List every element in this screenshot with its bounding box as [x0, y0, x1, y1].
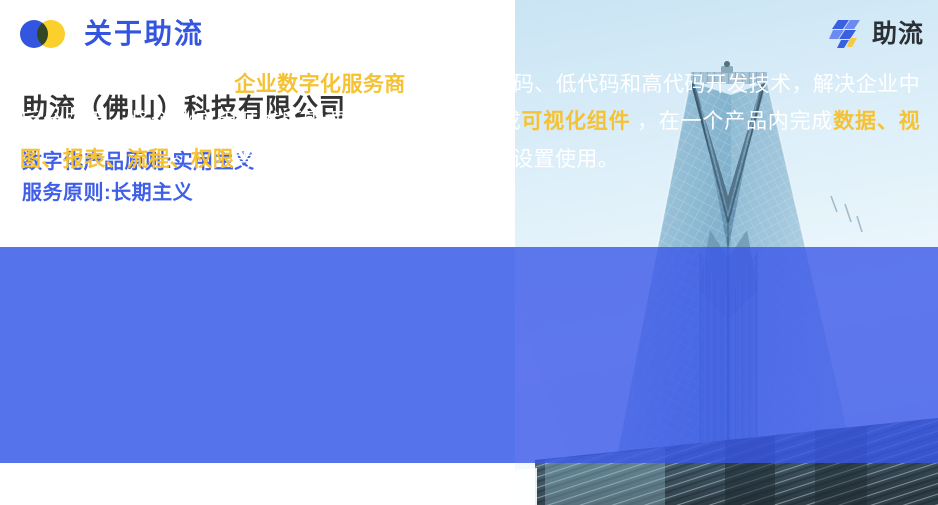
band-translucent-right [515, 247, 938, 463]
page-header: 关于助流 [20, 20, 204, 48]
brand-name: 助流 [872, 22, 924, 47]
zhuliu-lightning-logo-icon [829, 18, 863, 50]
description-band [0, 247, 938, 463]
principle-service: 服务原则:长期主义 [22, 178, 492, 210]
description-highlight: 可视化组件 [521, 110, 630, 133]
description-text: 助流科技是一家专业的 [20, 73, 234, 96]
two-overlapping-circles-logo-icon [20, 20, 70, 48]
lightning-mark-svg [829, 18, 863, 50]
description-text: ，在一个产品内完成 [630, 110, 833, 133]
brand-lockup: 助流 [829, 18, 924, 50]
description-text: 等功能，在电脑和手机上同步设置使用。 [234, 148, 619, 171]
description-highlight: 企业数字化服务商 [234, 73, 405, 96]
page-title: 关于助流 [84, 20, 204, 48]
company-description: 助流科技是一家专业的企业数字化服务商，依托零代码、低代码和高代码开发技术，解决企… [20, 66, 920, 178]
band-solid-left [0, 247, 515, 463]
logo-circle-gold [37, 20, 65, 48]
about-zhuliu-slide: 助流 关于助流 助流（佛山）科技有限公司 数字化产品原则:实用主义 服务原则:长… [0, 0, 938, 505]
